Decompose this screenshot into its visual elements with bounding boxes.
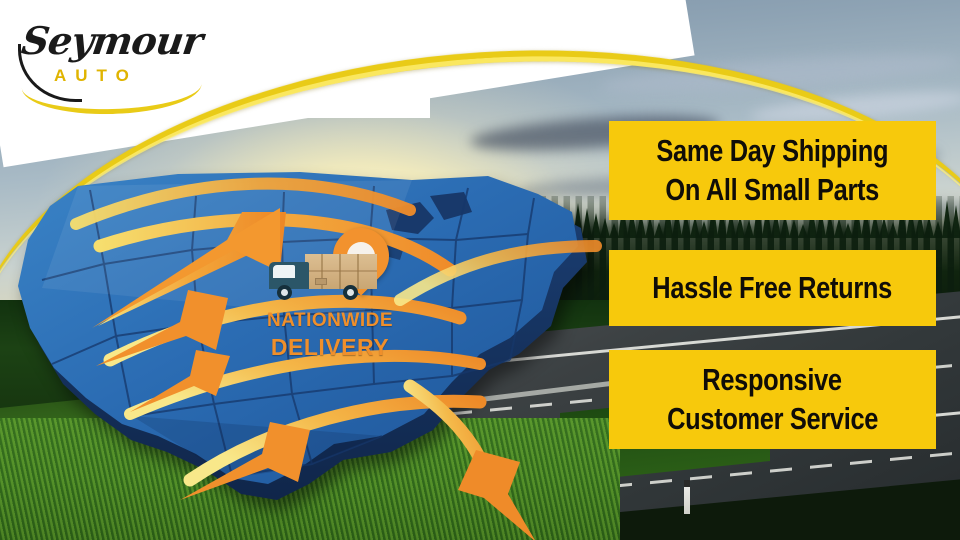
truck-window — [273, 265, 295, 278]
cargo-label — [315, 278, 327, 285]
brand-name: Seymour — [19, 18, 205, 63]
seymour-auto-logo[interactable]: Seymour AUTO — [16, 14, 226, 100]
delivery-truck-icon — [269, 254, 379, 304]
truck-cab — [269, 262, 309, 289]
truck-wheel — [343, 285, 358, 300]
delivery-headline-line2: DELIVERY — [255, 334, 405, 361]
banner-line: Same Day Shipping — [657, 135, 889, 167]
truck-wheel — [277, 285, 292, 300]
nationwide-delivery-badge: NATIONWIDE DELIVERY — [255, 228, 405, 368]
promo-banner-stage: Seymour AUTO — [0, 0, 960, 540]
feature-banner-hassle-free-returns[interactable]: Hassle Free Returns — [609, 250, 936, 326]
banner-line: Hassle Free Returns — [653, 272, 893, 304]
roadside-marker-post — [684, 480, 690, 514]
brand-subtitle: AUTO — [54, 66, 138, 86]
feature-banner-responsive-customer-service[interactable]: Responsive Customer Service — [609, 350, 936, 449]
banner-line: Responsive — [703, 364, 842, 396]
banner-line: Customer Service — [667, 403, 878, 435]
banner-line: On All Small Parts — [666, 174, 880, 206]
feature-banner-same-day-shipping[interactable]: Same Day Shipping On All Small Parts — [609, 121, 936, 220]
delivery-headline-line1: NATIONWIDE — [255, 310, 405, 332]
